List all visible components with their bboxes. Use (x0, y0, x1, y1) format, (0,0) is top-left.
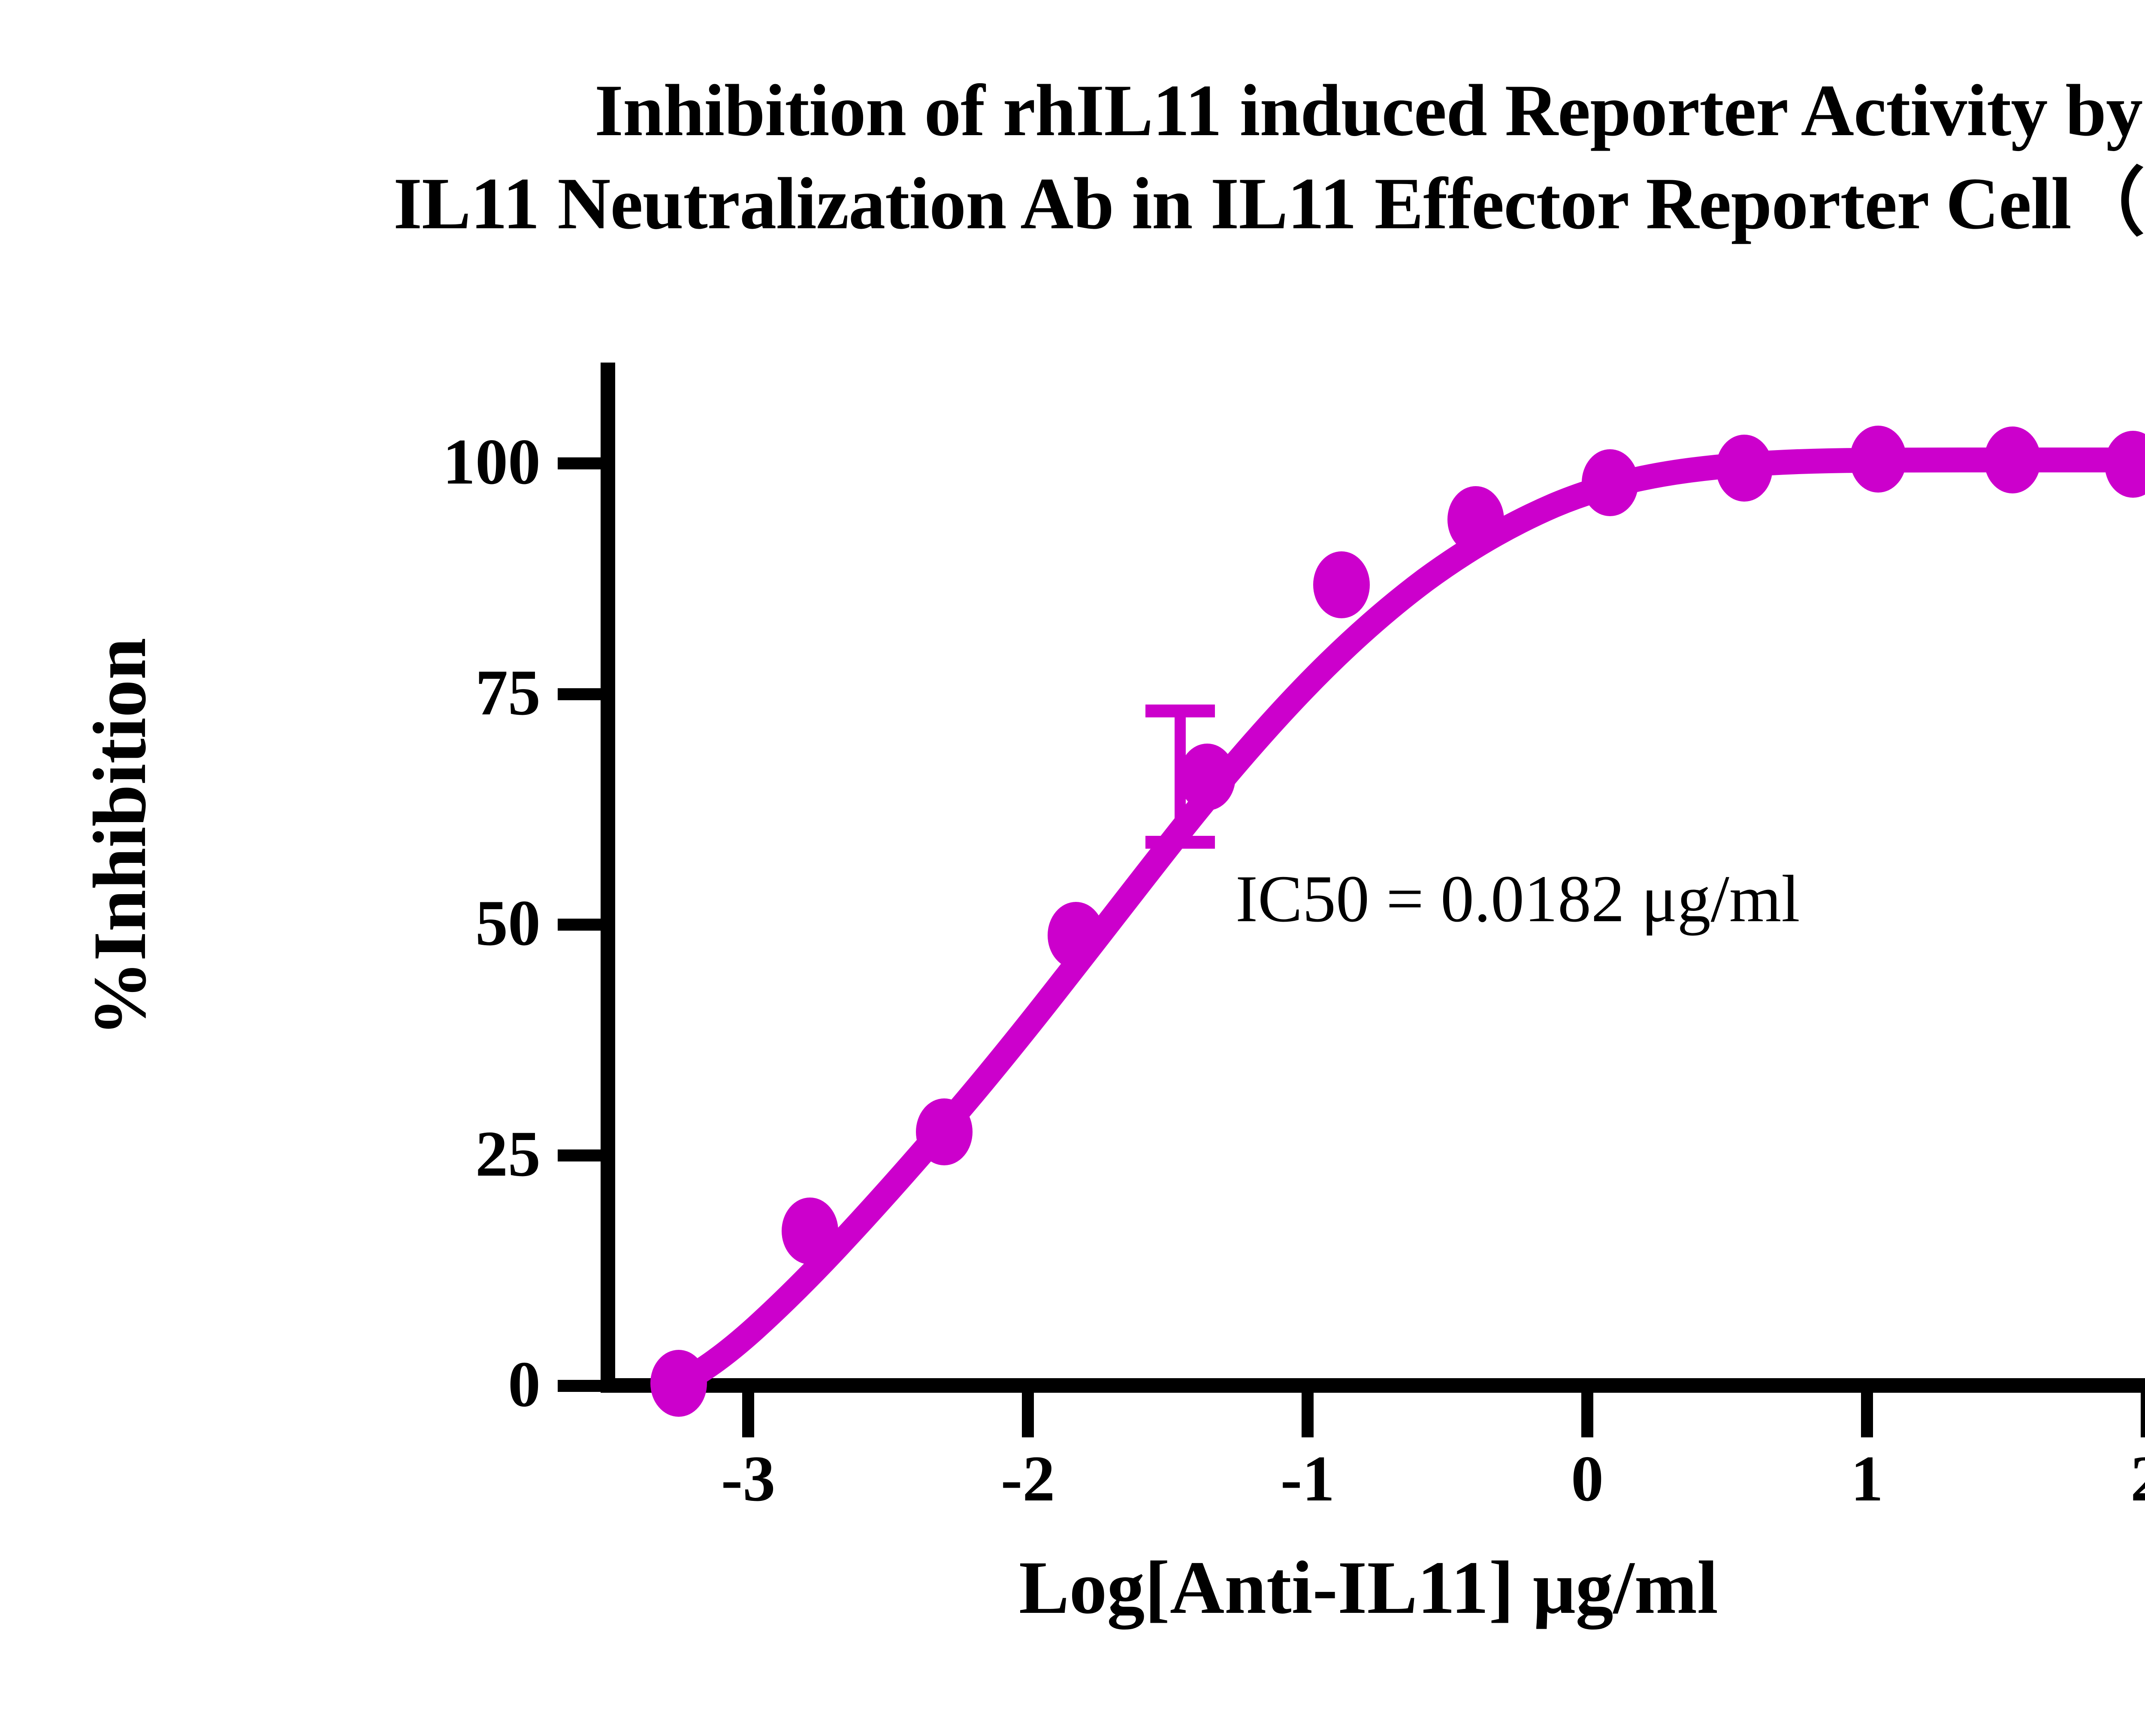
y-tick-label-25: 25 (360, 1121, 541, 1186)
x-tick-label-2: 2 (2078, 1446, 2145, 1511)
y-tick-0 (558, 1380, 602, 1392)
data-point (782, 1198, 838, 1264)
y-axis-ticks (558, 457, 602, 1392)
x-tick-neg1 (1302, 1393, 1314, 1437)
y-tick-label-75: 75 (360, 660, 541, 725)
error-bar-cap-top (1145, 705, 1215, 717)
x-tick-label-1: 1 (1798, 1446, 1936, 1511)
x-axis-spine (601, 1378, 2145, 1393)
y-tick-label-100: 100 (360, 429, 541, 494)
x-axis-title: Log[Anti-IL11] μg/ml (0, 1545, 2145, 1631)
data-point (1447, 486, 1504, 553)
data-point (1313, 551, 1370, 618)
data-point (1716, 435, 1773, 502)
y-tick-50 (558, 919, 602, 931)
y-tick-100 (558, 457, 602, 469)
data-point (916, 1098, 973, 1165)
y-tick-label-50: 50 (360, 890, 541, 956)
x-axis-ticks (742, 1393, 2145, 1437)
x-tick-neg3 (742, 1393, 754, 1437)
data-point (2105, 431, 2145, 498)
x-tick-1 (1861, 1393, 1873, 1437)
data-point (1048, 902, 1104, 969)
x-tick-label-0: 0 (1519, 1446, 1656, 1511)
plot-area: 100 75 50 25 0 -3 -2 -1 0 1 2 %Inhibitio… (0, 0, 2145, 1736)
x-tick-label-neg3: -3 (680, 1446, 817, 1511)
y-axis-spine (601, 363, 615, 1392)
data-point (1582, 449, 1638, 516)
x-tick-0 (1581, 1393, 1593, 1437)
x-tick-neg2 (1022, 1393, 1034, 1437)
x-tick-label-neg1: -1 (1239, 1446, 1376, 1511)
x-tick-2 (2141, 1393, 2145, 1437)
y-tick-label-0: 0 (360, 1352, 541, 1417)
data-point (1179, 744, 1236, 811)
y-tick-25 (558, 1149, 602, 1161)
x-tick-label-neg2: -2 (959, 1446, 1097, 1511)
y-tick-75 (558, 688, 602, 700)
y-axis-title: %Inhibition (77, 494, 163, 1180)
data-point (1984, 426, 2041, 493)
data-point (650, 1350, 707, 1417)
data-point (1850, 426, 1906, 493)
ic50-annotation: IC50 = 0.0182 μg/ml (1236, 860, 1800, 938)
error-bar-cap-bottom (1145, 836, 1215, 849)
figure-canvas: Inhibition of rhIL11 induced Reporter Ac… (0, 0, 2145, 1736)
